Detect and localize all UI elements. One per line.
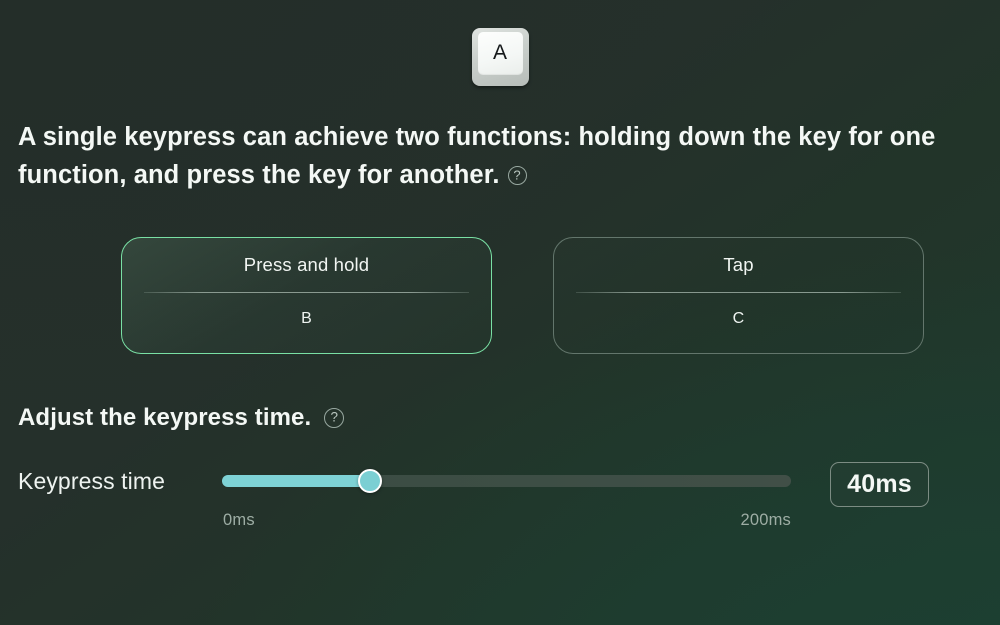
- help-glyph: ?: [330, 411, 338, 425]
- card-press-and-hold-value[interactable]: B: [143, 310, 470, 328]
- slider-label: Keypress time: [18, 466, 165, 496]
- intro-text: A single keypress can achieve two functi…: [18, 123, 935, 189]
- card-tap-title: Tap: [575, 252, 902, 278]
- card-tap-value[interactable]: C: [575, 310, 902, 328]
- card-tap[interactable]: Tap C: [553, 237, 924, 354]
- keypress-time-slider-row: Keypress time 0ms 200ms 40ms: [18, 466, 982, 526]
- keypress-time-value-input[interactable]: 40ms: [830, 462, 929, 507]
- keycap-letter: A: [493, 42, 507, 63]
- slider-thumb[interactable]: [358, 469, 382, 493]
- slider-area: 0ms 200ms: [222, 475, 791, 487]
- help-glyph: ?: [513, 169, 520, 182]
- question-mark-circle-icon[interactable]: ?: [508, 166, 527, 185]
- question-mark-circle-icon[interactable]: ?: [324, 408, 344, 428]
- card-press-and-hold-title: Press and hold: [143, 252, 470, 278]
- card-divider: [576, 292, 901, 293]
- keycap-illustration-container: A: [0, 28, 1000, 86]
- keycap-face: A: [478, 32, 523, 75]
- slider-max-label: 200ms: [740, 511, 791, 530]
- card-divider: [144, 292, 469, 293]
- section-heading-keypress-time: Adjust the keypress time.?: [18, 404, 344, 432]
- slider-min-label: 0ms: [223, 511, 255, 530]
- intro-description: A single keypress can achieve two functi…: [18, 118, 986, 194]
- section-heading-text: Adjust the keypress time.: [18, 404, 311, 431]
- keypress-settings-page: A A single keypress can achieve two func…: [0, 0, 1000, 625]
- slider-track[interactable]: [222, 475, 791, 487]
- card-press-and-hold[interactable]: Press and hold B: [121, 237, 492, 354]
- slider-track-fill: [222, 475, 370, 487]
- keyboard-key-icon: A: [472, 28, 529, 86]
